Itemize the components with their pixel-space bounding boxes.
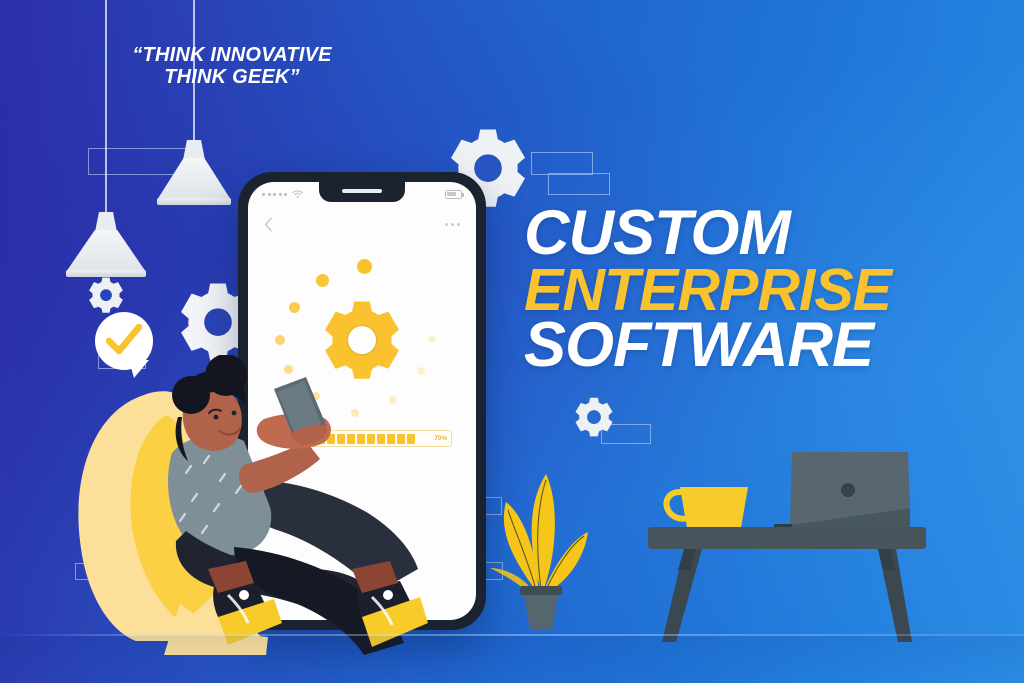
laptop-icon [774, 452, 910, 530]
floor-shade [0, 636, 1024, 683]
coffee-cup-icon [667, 487, 749, 533]
chevron-left-icon[interactable] [264, 217, 273, 232]
potted-plant-icon [484, 440, 594, 630]
gear-small-top-left-icon [85, 275, 127, 317]
spinner-dot [428, 335, 436, 343]
desk-scene [640, 430, 940, 645]
signal-dots-icon [262, 193, 287, 196]
lamp-cord-left [105, 0, 107, 228]
check-icon [106, 324, 142, 358]
deco-rect-3 [548, 173, 610, 195]
spinner-dot [275, 335, 285, 345]
person-sitting-with-phone-illustration [68, 355, 488, 665]
phone-nav-bar [248, 210, 476, 238]
spinner-dot [357, 259, 372, 274]
headline-line-2: ENTERPRISE [524, 263, 994, 317]
deco-rect-1 [88, 148, 186, 175]
gear-mid-right-icon [571, 395, 617, 441]
tagline-line-2: THINK GEEK” [82, 66, 382, 88]
phone-status-bar [248, 182, 476, 206]
tagline-line-1: “THINK INNOVATIVE [132, 44, 331, 66]
wifi-icon [292, 190, 303, 199]
spinner-dot [316, 274, 329, 287]
headline: CUSTOM ENTERPRISE SOFTWARE [524, 205, 994, 375]
headline-line-1: CUSTOM [524, 205, 994, 263]
headline-line-3: SOFTWARE [524, 317, 994, 375]
deco-rect-2 [531, 152, 593, 175]
poster-canvas: “THINK INNOVATIVE THINK GEEK” [0, 0, 1024, 683]
more-horizontal-icon[interactable] [445, 223, 460, 226]
tagline: “THINK INNOVATIVE THINK GEEK” [82, 44, 382, 89]
spinner-dot [289, 302, 300, 313]
battery-icon [445, 190, 462, 199]
